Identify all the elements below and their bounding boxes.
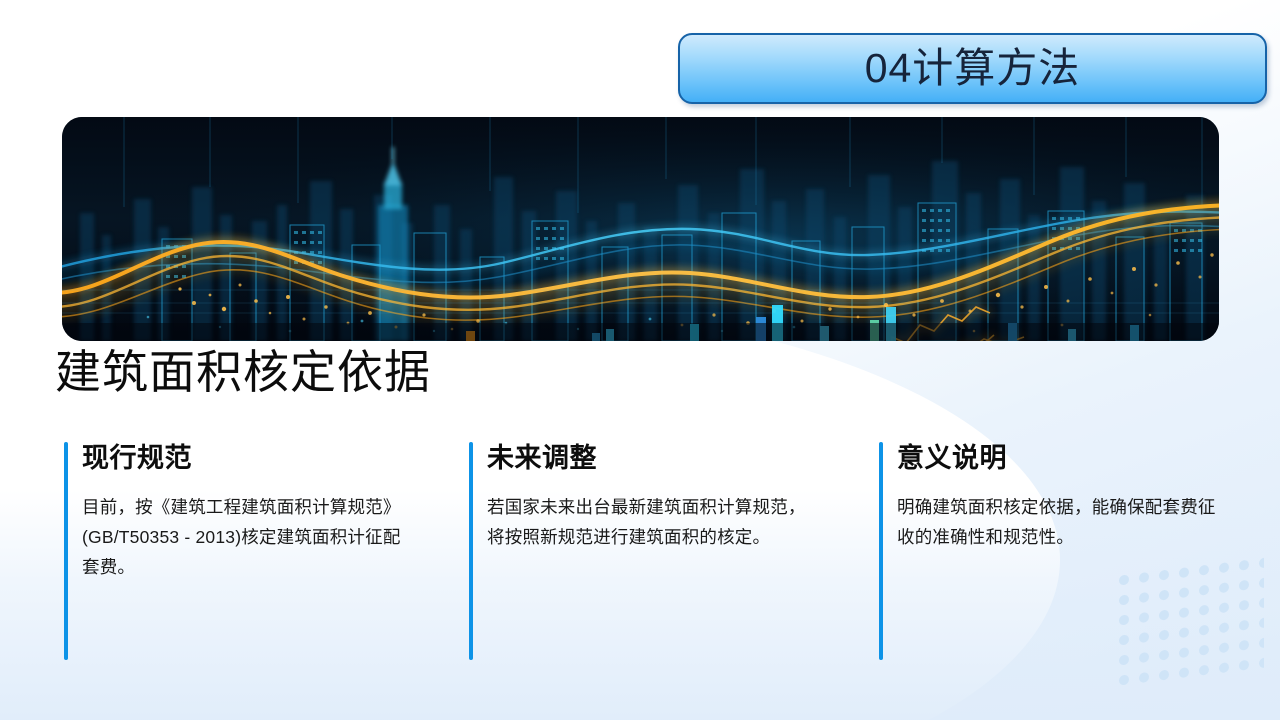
content-column-1: 现行规范 目前，按《建筑工程建筑面积计算规范》(GB/T50353 - 2013… — [62, 442, 467, 662]
city-data-wave-illustration — [62, 117, 1219, 341]
column-title: 未来调整 — [487, 442, 877, 474]
column-body: 目前，按《建筑工程建筑面积计算规范》(GB/T50353 - 2013)核定建筑… — [82, 492, 417, 582]
hero-banner-image — [62, 117, 1219, 341]
column-body: 若国家未来出台最新建筑面积计算规范，将按照新规范进行建筑面积的核定。 — [487, 492, 822, 552]
content-column-3: 意义说明 明确建筑面积核定依据，能确保配套费征收的准确性和规范性。 — [877, 442, 1222, 662]
content-columns: 现行规范 目前，按《建筑工程建筑面积计算规范》(GB/T50353 - 2013… — [62, 442, 1222, 662]
content-column-2: 未来调整 若国家未来出台最新建筑面积计算规范，将按照新规范进行建筑面积的核定。 — [467, 442, 877, 662]
page-title: 建筑面积核定依据 — [55, 346, 431, 399]
column-accent-bar — [879, 442, 883, 660]
section-badge: 04计算方法 — [678, 33, 1267, 104]
column-accent-bar — [469, 442, 473, 660]
column-accent-bar — [64, 442, 68, 660]
section-badge-label: 04计算方法 — [865, 48, 1081, 89]
column-title: 现行规范 — [82, 442, 467, 474]
column-title: 意义说明 — [897, 442, 1222, 474]
column-body: 明确建筑面积核定依据，能确保配套费征收的准确性和规范性。 — [897, 492, 1217, 552]
slide-canvas: 04计算方法 — [0, 0, 1280, 720]
